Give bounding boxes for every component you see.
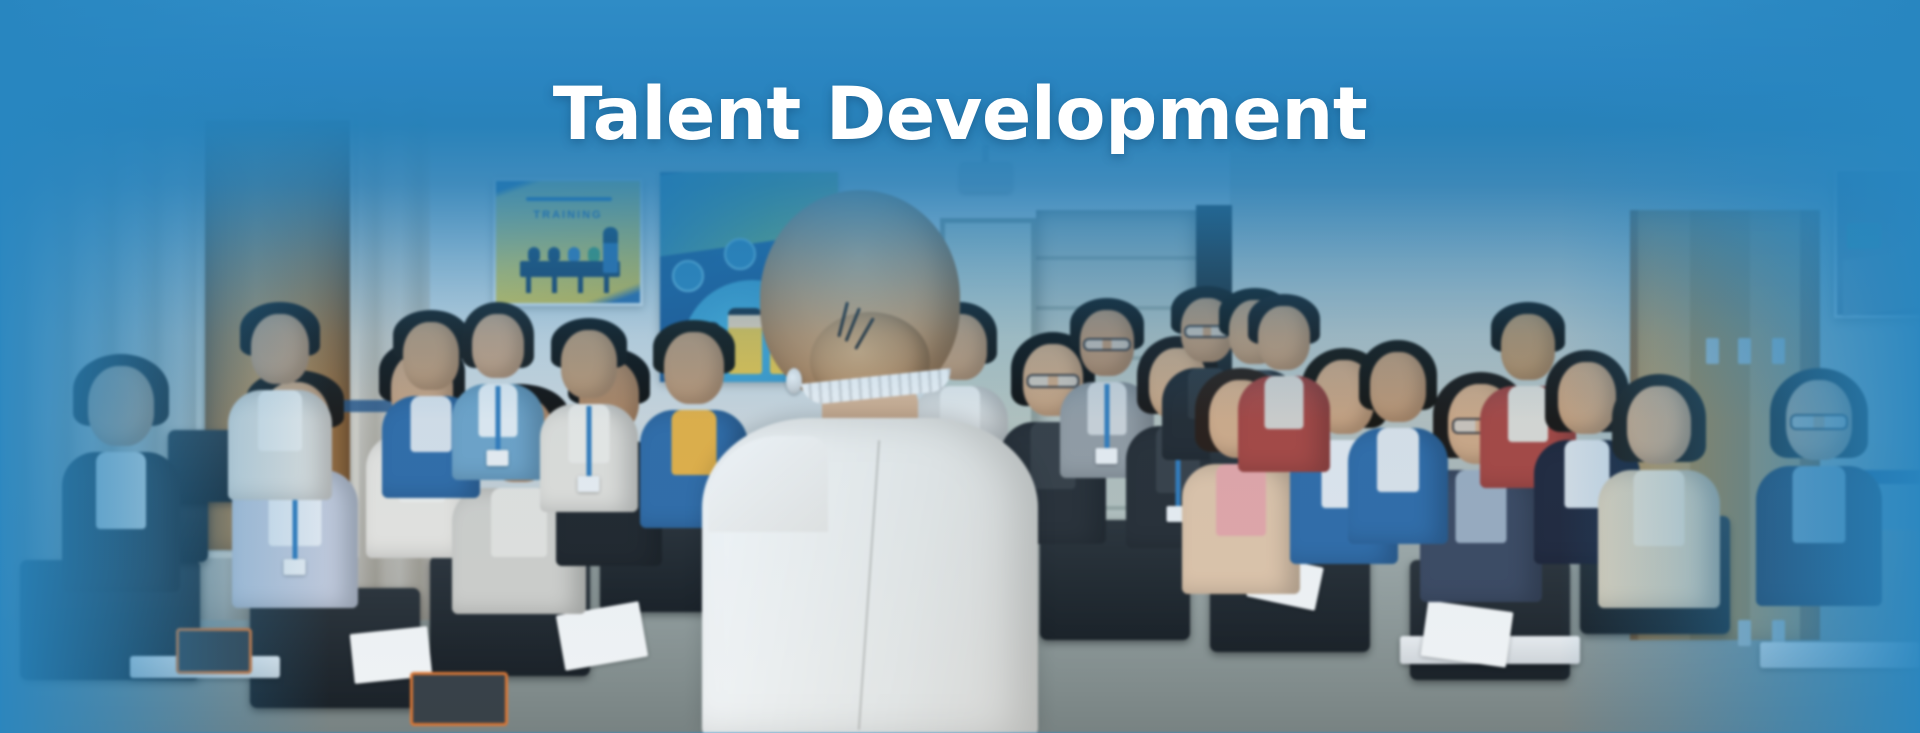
audience-member — [540, 316, 638, 512]
audience-member-head — [561, 330, 617, 398]
id-badge — [284, 559, 306, 575]
audience-member-head — [403, 322, 459, 390]
id-badge — [578, 476, 600, 492]
audience-member — [228, 300, 332, 500]
page-title: Talent Development — [0, 78, 1920, 151]
audience-member — [1238, 292, 1330, 472]
audience-member-collar — [96, 452, 146, 529]
hero-banner: TRAINING — [0, 0, 1920, 733]
lanyard — [496, 386, 501, 450]
audience-member-collar — [258, 390, 302, 451]
audience-member — [1348, 338, 1448, 544]
pearl-earring-icon — [786, 368, 802, 394]
lanyard — [587, 406, 592, 476]
lanyard — [1105, 384, 1110, 448]
id-badge — [487, 450, 509, 466]
audience-member-head — [1258, 306, 1310, 370]
audience-member-head — [1627, 386, 1691, 464]
audience-member-body — [1238, 376, 1330, 472]
audience-member-collar — [1216, 464, 1266, 536]
audience-member-body — [1182, 464, 1300, 594]
audience-member-collar — [411, 396, 452, 452]
audience-member-collar — [1793, 466, 1846, 543]
audience-member-body — [1756, 466, 1882, 606]
audience-member-collar — [1634, 470, 1685, 546]
id-badge — [1096, 448, 1118, 464]
audience-member — [1756, 366, 1882, 606]
audience-member — [62, 352, 180, 592]
audience-member-body — [62, 452, 180, 592]
audience-member — [452, 300, 544, 480]
audience-member-collar — [1265, 376, 1304, 429]
audience-member-head — [88, 366, 154, 446]
presenter-figure — [690, 190, 1050, 733]
audience-member-body — [228, 390, 332, 500]
audience-member-collar — [1377, 428, 1419, 492]
audience-member-body — [1598, 470, 1720, 608]
eyeglasses-icon — [1790, 414, 1848, 430]
audience-member-head — [1370, 352, 1426, 422]
audience-member-collar — [491, 488, 547, 557]
audience-member-head — [251, 314, 309, 384]
audience-member — [1598, 372, 1720, 608]
audience-member-head — [472, 314, 524, 378]
audience-member-body — [1348, 428, 1448, 544]
eyeglasses-icon — [1083, 338, 1131, 351]
